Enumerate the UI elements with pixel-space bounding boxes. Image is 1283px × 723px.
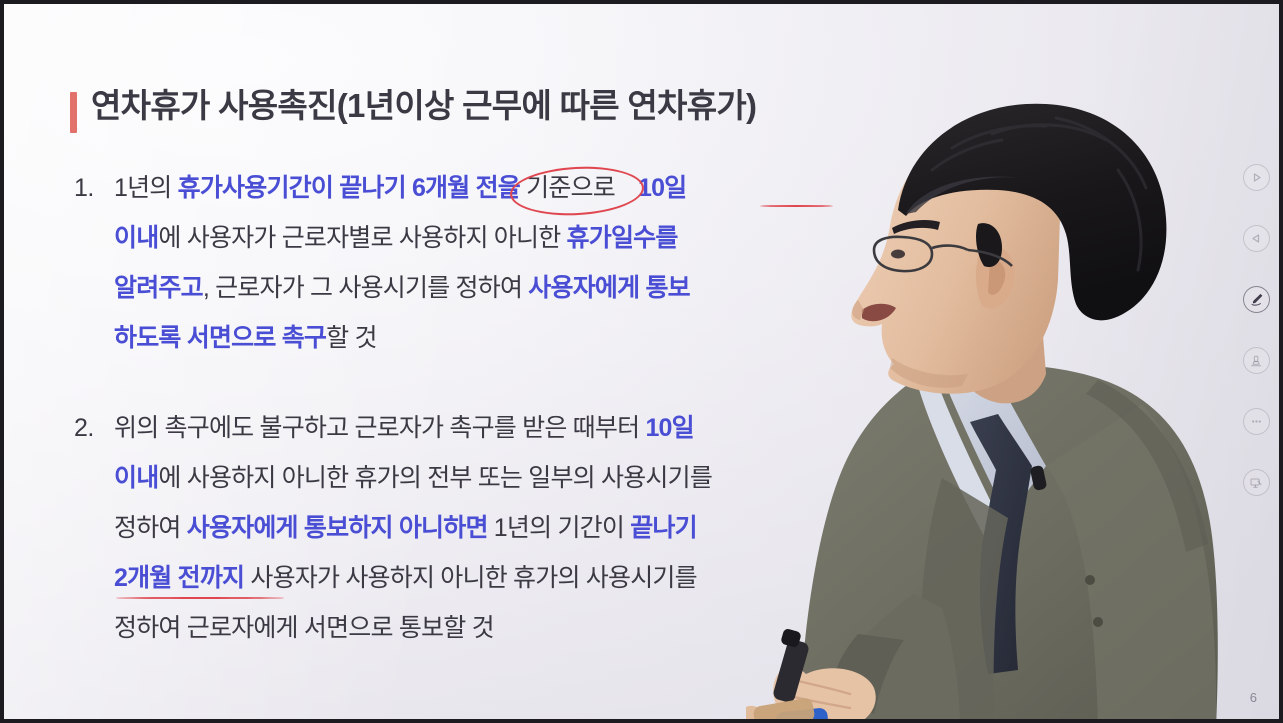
video-frame: 연차휴가 사용촉진(1년이상 근무에 따른 연차휴가) 1. 1년의 휴가사용기… xyxy=(0,0,1283,723)
paragraph-2-line-3: 정하여 사용자에게 통보하지 아니하면 1년의 기간이 끝나기 xyxy=(114,503,910,553)
paragraph-2-line-5: 정하여 근로자에게 서면으로 통보할 것 xyxy=(114,603,910,653)
slide-content: 연차휴가 사용촉진(1년이상 근무에 따른 연차휴가) 1. 1년의 휴가사용기… xyxy=(70,88,910,693)
text-run-highlight: 휴가일수를 xyxy=(567,224,678,252)
text-run: 에 사용자가 근로자별로 사용하지 아니한 xyxy=(158,224,566,252)
text-run-highlight: 10일 xyxy=(645,414,693,442)
paragraph-2-number: 2. xyxy=(70,403,114,653)
play-icon[interactable] xyxy=(1243,164,1270,191)
text-run-highlight: 하도록 서면으로 촉구 xyxy=(114,324,326,352)
tool-rail[interactable] xyxy=(1241,164,1271,496)
pen-icon[interactable] xyxy=(1243,286,1270,313)
paragraph-1-line-3: 알려주고, 근로자가 그 사용시기를 정하여 사용자에게 통보 xyxy=(114,263,910,313)
paragraph-2-line-4: 2개월 전까지 사용자가 사용하지 아니한 휴가의 사용시기를 xyxy=(114,553,910,603)
red-underline-annotation-2months xyxy=(116,597,284,599)
text-run: 1년의 기간이 xyxy=(488,514,631,542)
paragraph-1-body: 1년의 휴가사용기간이 끝나기 6개월 전을 기준으로ㅤ10일 이내에 사용자가… xyxy=(114,163,910,363)
paragraph-1: 1. 1년의 휴가사용기간이 끝나기 6개월 전을 기준으로ㅤ10일 이내에 사… xyxy=(70,163,910,363)
text-run-highlight: 이내 xyxy=(114,224,158,252)
text-run: 정하여 xyxy=(114,514,187,542)
page-number: 6 xyxy=(1250,690,1257,705)
text-run: 정하여 근로자에게 서면으로 통보할 것 xyxy=(114,614,494,642)
text-run: 1년의 xyxy=(114,174,178,202)
annotated-term-6months: 6개월 전을 xyxy=(412,174,520,202)
annotated-term-10days: 10일 xyxy=(638,174,686,202)
more-icon[interactable] xyxy=(1243,408,1270,435)
paragraph-1-number: 1. xyxy=(70,163,114,363)
highlighter-icon[interactable] xyxy=(1243,347,1270,374)
slide-title-row: 연차휴가 사용촉진(1년이상 근무에 따른 연차휴가) xyxy=(70,88,910,133)
text-run: 기준으로ㅤ xyxy=(520,174,638,202)
text-run: 할 것 xyxy=(326,324,377,352)
text-run: 에 사용하지 아니한 휴가의 전부 또는 일부의 사용시기를 xyxy=(158,464,712,492)
paragraph-1-line-4: 하도록 서면으로 촉구할 것 xyxy=(114,313,910,363)
annotated-term-2months: 2개월 전까지 xyxy=(114,564,244,592)
text-run: 사용자가 사용하지 아니한 휴가의 사용시기를 xyxy=(244,564,697,592)
paragraph-2-body: 위의 촉구에도 불구하고 근로자가 촉구를 받은 때부터 10일 이내에 사용하… xyxy=(114,403,910,653)
paragraph-1-line-1: 1년의 휴가사용기간이 끝나기 6개월 전을 기준으로ㅤ10일 xyxy=(114,163,910,213)
text-run-highlight: 사용자에게 통보 xyxy=(528,274,690,302)
text-run-highlight: 이내 xyxy=(114,464,158,492)
text-run-highlight: 사용자에게 통보하지 아니하면 xyxy=(187,514,488,542)
paragraph-2-line-2: 이내에 사용하지 아니한 휴가의 전부 또는 일부의 사용시기를 xyxy=(114,453,910,503)
rewind-icon[interactable] xyxy=(1243,225,1270,252)
text-run-highlight: 알려주고 xyxy=(114,274,203,302)
screen-icon[interactable] xyxy=(1243,469,1270,496)
paragraph-1-line-2: 이내에 사용자가 근로자별로 사용하지 아니한 휴가일수를 xyxy=(114,213,910,263)
text-run: , 근로자가 그 사용시기를 정하여 xyxy=(203,274,528,302)
text-run: 위의 촉구에도 불구하고 근로자가 촉구를 받은 때부터 xyxy=(114,414,645,442)
paragraph-2-line-1: 위의 촉구에도 불구하고 근로자가 촉구를 받은 때부터 10일 xyxy=(114,403,910,453)
red-underline-annotation-10days xyxy=(760,205,833,207)
paragraph-2: 2. 위의 촉구에도 불구하고 근로자가 촉구를 받은 때부터 10일 이내에 … xyxy=(70,403,910,653)
slide-title: 연차휴가 사용촉진(1년이상 근무에 따른 연차휴가) xyxy=(91,88,756,125)
title-accent-bar xyxy=(70,92,77,133)
text-run-highlight: 휴가사용기간이 끝나기 xyxy=(178,174,412,202)
text-run-highlight: 끝나기 xyxy=(630,514,697,542)
